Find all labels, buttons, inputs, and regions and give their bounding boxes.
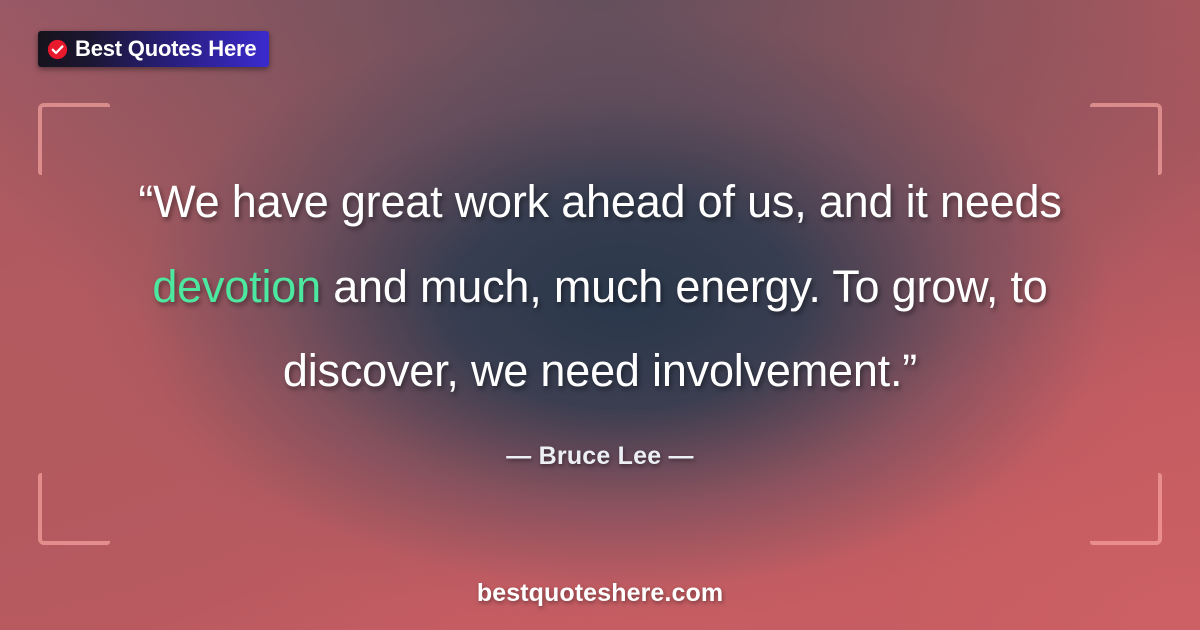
quote-close-mark: ” — [902, 345, 917, 396]
quote-text: “We have great work ahead of us, and it … — [105, 160, 1095, 414]
brand-badge-label: Best Quotes Here — [75, 38, 256, 60]
quote-author: — Bruce Lee — — [506, 442, 693, 471]
quote-part-two: and much, much energy. To grow, to disco… — [283, 261, 1048, 397]
quote-card: Best Quotes Here “We have great work ahe… — [0, 0, 1200, 630]
footer-website-url[interactable]: bestquoteshere.com — [0, 579, 1200, 608]
verified-check-icon — [47, 39, 68, 60]
quote-highlight-word: devotion — [152, 261, 321, 312]
corner-bracket-bottom-right — [1090, 473, 1162, 545]
quote-block: “We have great work ahead of us, and it … — [0, 160, 1200, 471]
quote-part-one: We have great work ahead of us, and it n… — [153, 176, 1061, 227]
brand-badge[interactable]: Best Quotes Here — [38, 31, 269, 67]
corner-bracket-bottom-left — [38, 473, 110, 545]
quote-open-mark: “ — [138, 176, 153, 227]
